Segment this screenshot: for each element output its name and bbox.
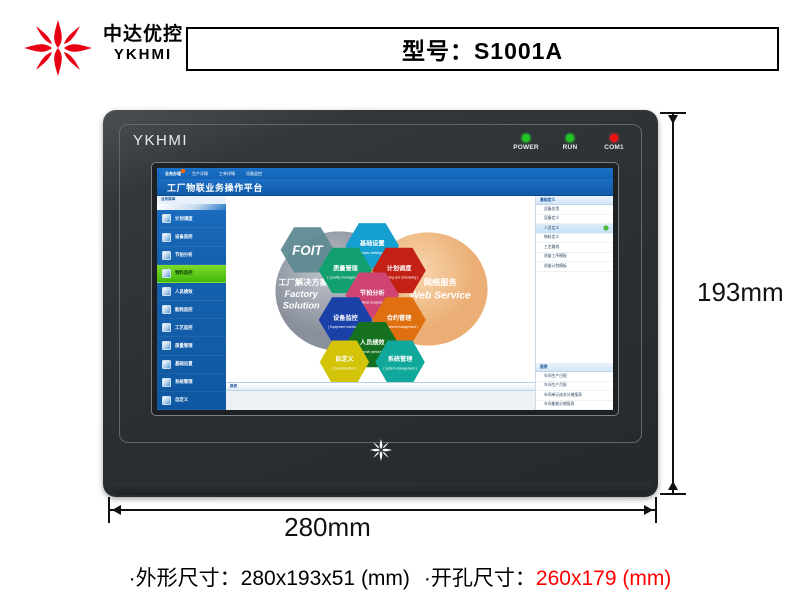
model-number-box: 型号：S1001A [186, 27, 779, 71]
active-marker-icon [604, 226, 608, 230]
sidebar-header: 业务菜单 [157, 196, 226, 204]
brand-name-en: YKHMI [100, 46, 186, 64]
rail-section-basic-title: 基础定义 [540, 198, 555, 203]
four-petal-flower-logo [22, 18, 94, 78]
sidebar-item-system-label: 系统管理 [175, 379, 193, 385]
sidebar-item-equipment[interactable]: 设备监控 [157, 228, 226, 246]
rail-item-device-def[interactable]: 设备定义 [536, 215, 613, 225]
svg-text:合约管理: 合约管理 [387, 314, 413, 322]
sidebar-nav: 业务菜单 计划调度 设备监控 节拍分析 [157, 196, 226, 410]
right-rail: 基础定义 设备应用 设备定义 人员定义 物料定义 [535, 196, 613, 410]
width-dim-line [110, 509, 656, 511]
rail-item-device-def-label: 设备定义 [544, 216, 559, 221]
sidebar-item-custom-label: 自定义 [175, 397, 188, 403]
tab-equipment[interactable]: 设备监控 [246, 171, 262, 177]
svg-text:质量管理: 质量管理 [333, 264, 359, 272]
led-com1: COM1 [598, 134, 630, 151]
svg-text:Factory: Factory [284, 289, 318, 299]
rail-item-quality-step-template-label: 质量工序模板 [544, 254, 567, 259]
sidebar-item-basic-settings-label: 基础设置 [175, 361, 193, 367]
report-bottom-panel: 报表 [226, 382, 535, 410]
monitor-icon [162, 233, 171, 242]
model-number-text: 型号：S1001A [402, 32, 563, 66]
run-led-dot [566, 134, 574, 142]
sidebar-item-system[interactable]: 系统管理 [157, 374, 226, 392]
hero-diagram: FOIT 工厂解决方案 Factory Solution 网络服务 Web Se… [226, 196, 535, 382]
app-title-bar: 工厂物联业务操作平台 [157, 179, 613, 196]
rail-item-daily-report[interactable]: 车间生产日报 [536, 372, 613, 382]
sidebar-header-label: 业务菜单 [161, 197, 175, 202]
svg-text:基础设置: 基础设置 [359, 240, 385, 248]
footer-cutout-spec: ·开孔尺寸：260x179 (mm) [424, 562, 671, 592]
rail-item-device-app-label: 设备应用 [544, 207, 559, 212]
sidebar-item-personnel[interactable]: 人员绩效 [157, 283, 226, 301]
tab-production[interactable]: 生产详情 [192, 171, 208, 177]
footer-cutout-label: ·开孔尺寸： [424, 567, 536, 590]
sidebar-item-energy[interactable]: 能耗监控 [157, 301, 226, 319]
rail-item-unit-cost-report-label: 车间单元成本分摊报表 [544, 393, 582, 398]
tab-business-label: 业务办理 [165, 171, 181, 176]
svg-text:( basic settings ): ( basic settings ) [360, 251, 385, 255]
rail-spacer [536, 272, 613, 364]
tab-business[interactable]: 业务办理 [165, 171, 181, 177]
rail-item-material-def[interactable]: 物料定义 [536, 234, 613, 244]
svg-text:节拍分析: 节拍分析 [360, 289, 386, 297]
power-led-dot [522, 134, 530, 142]
sidebar-item-energy-label: 能耗监控 [175, 307, 193, 313]
rail-item-process-route-label: 工艺路线 [544, 245, 559, 250]
svg-text:人员绩效: 人员绩效 [359, 339, 386, 347]
footer-cutout-value: 260x179 (mm) [536, 567, 671, 590]
com1-led-label: COM1 [604, 144, 624, 151]
svg-text:FOIT: FOIT [292, 243, 324, 258]
sidebar-item-plan[interactable]: 计划调度 [157, 210, 226, 228]
rail-item-monthly-report-label: 车间生产月报 [544, 383, 567, 388]
calendar-icon [162, 214, 171, 223]
sidebar-item-basic-settings[interactable]: 基础设置 [157, 356, 226, 374]
footer-outline-spec: ·外形尺寸：280x193x51 (mm) [129, 562, 410, 592]
svg-text:( system management ): ( system management ) [383, 366, 416, 370]
rail-item-person-def-label: 人员定义 [544, 226, 559, 231]
sidebar-item-beat[interactable]: 节拍分析 [157, 247, 226, 265]
box-icon [162, 269, 171, 278]
app-title: 工厂物联业务操作平台 [167, 181, 263, 194]
device-base-strip [109, 483, 652, 495]
sidebar-item-quality[interactable]: 质量管理 [157, 337, 226, 355]
rail-section-report-title: 报表 [540, 365, 548, 370]
rail-item-energy-cost-report-label: 车间能耗分摊报表 [544, 402, 574, 407]
height-dim-line [672, 113, 674, 494]
rail-item-process-route[interactable]: 工艺路线 [536, 243, 613, 253]
rail-item-material-def-label: 物料定义 [544, 235, 559, 240]
svg-text:工厂解决方案: 工厂解决方案 [279, 277, 329, 287]
run-led-label: RUN [563, 144, 578, 151]
sidebar-item-custom[interactable]: 自定义 [157, 392, 226, 410]
svg-text:Web Service: Web Service [410, 290, 471, 301]
rail-item-daily-report-label: 车间生产日报 [544, 374, 567, 379]
rail-item-quality-step-template[interactable]: 质量工序模板 [536, 253, 613, 263]
footer-spec-row: ·外形尺寸：280x193x51 (mm) ·开孔尺寸：260x179 (mm) [0, 560, 800, 594]
people-icon [162, 287, 171, 296]
rail-item-quality-plan-template-label: 质量计划模板 [544, 264, 567, 269]
user-icon [162, 396, 171, 405]
svg-text:系统管理: 系统管理 [388, 355, 414, 363]
sidebar-item-plan-label: 计划调度 [175, 216, 193, 222]
brand-text-block: 中达优控 YKHMI [100, 24, 186, 64]
center-column: FOIT 工厂解决方案 Factory Solution 网络服务 Web Se… [226, 196, 535, 410]
led-power: POWER [510, 134, 542, 151]
svg-text:计划调度: 计划调度 [387, 264, 413, 272]
svg-text:( Beat analysis ): ( Beat analysis ) [360, 300, 385, 304]
hero-diagram-svg: FOIT 工厂解决方案 Factory Solution 网络服务 Web Se… [226, 196, 535, 382]
sidebar-item-beat-label: 节拍分析 [175, 252, 193, 258]
sidebar-item-material-label: 物料监控 [175, 270, 193, 276]
width-dim-label: 280mm [0, 512, 655, 543]
four-point-star-icon [369, 438, 393, 462]
height-dim-label: 193mm [697, 277, 784, 308]
brand-name-cn: 中达优控 [100, 24, 186, 46]
footer-outline-value: 280x193x51 (mm) [241, 567, 410, 590]
led-indicator-group: POWER RUN COM1 [510, 134, 630, 151]
height-dim-arrow-bottom [668, 481, 678, 490]
sidebar-item-equipment-label: 设备监控 [175, 234, 193, 240]
svg-text:自定义: 自定义 [335, 355, 354, 363]
sidebar-item-process-label: 工艺监控 [175, 325, 193, 331]
app-body: 业务菜单 计划调度 设备监控 节拍分析 [157, 196, 613, 410]
svg-text:( Customization ): ( Customization ) [332, 366, 357, 370]
quality-icon [162, 341, 171, 350]
report-panel-label: 报表 [230, 384, 237, 389]
rail-section-basic-header: 基础定义 [536, 196, 613, 205]
sidebar-item-quality-label: 质量管理 [175, 343, 193, 349]
device-front-label: YKHMI [133, 132, 188, 149]
svg-text:网络服务: 网络服务 [424, 277, 458, 287]
sidebar-item-material[interactable]: 物料监控 [157, 265, 226, 283]
rail-item-quality-plan-template[interactable]: 质量计划模板 [536, 262, 613, 272]
rail-item-unit-cost-report[interactable]: 车间单元成本分摊报表 [536, 391, 613, 401]
sidebar-tab-wedge [157, 204, 226, 211]
led-run: RUN [554, 134, 586, 151]
tab-workorder[interactable]: 工单详情 [219, 171, 235, 177]
screen-bezel: 业务办理 生产详情 工单详情 设备监控 工厂物联业务操作平台 业务菜单 [151, 162, 619, 416]
process-icon [162, 323, 171, 332]
gear-icon [162, 360, 171, 369]
svg-text:Solution: Solution [283, 301, 320, 311]
rail-item-device-app[interactable]: 设备应用 [536, 205, 613, 215]
com1-led-dot [610, 134, 618, 142]
power-led-label: POWER [513, 144, 539, 151]
report-panel-header: 报表 [226, 383, 535, 391]
rail-section-report-header: 报表 [536, 363, 613, 372]
rail-item-monthly-report[interactable]: 车间生产月报 [536, 382, 613, 392]
brand-logo-block: 中达优控 YKHMI [22, 16, 182, 80]
footer-outline-label: ·外形尺寸： [129, 567, 241, 590]
chart-icon [162, 251, 171, 260]
tab-business-badge [181, 169, 185, 173]
system-icon [162, 378, 171, 387]
rail-item-person-def[interactable]: 人员定义 [536, 224, 613, 234]
hmi-device: YKHMI POWER RUN COM1 业务办理 生产详情 工单详情 设备监控 [103, 110, 658, 497]
energy-icon [162, 305, 171, 314]
lcd-screen[interactable]: 业务办理 生产详情 工单详情 设备监控 工厂物联业务操作平台 业务菜单 [157, 168, 613, 410]
sidebar-item-process[interactable]: 工艺监控 [157, 319, 226, 337]
sidebar-item-personnel-label: 人员绩效 [175, 289, 193, 295]
rail-item-energy-cost-report[interactable]: 车间能耗分摊报表 [536, 401, 613, 411]
svg-text:设备监控: 设备监控 [333, 314, 359, 322]
app-tab-bar: 业务办理 生产详情 工单详情 设备监控 [157, 168, 613, 179]
height-dim-arrow-top [668, 115, 678, 124]
